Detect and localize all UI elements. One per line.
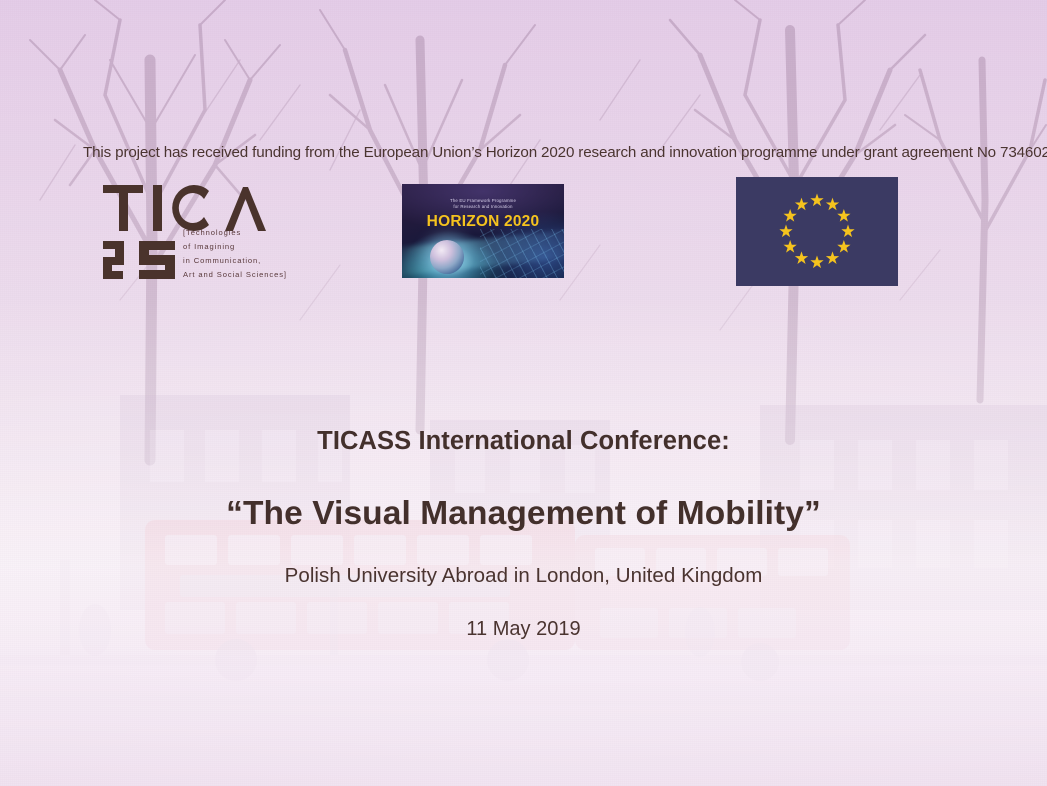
european-union-flag: [736, 177, 898, 286]
horizon-title: HORIZON 2020: [402, 213, 564, 231]
event-date: 11 May 2019: [0, 618, 1047, 641]
page-title: “The Visual Management of Mobility”: [0, 495, 1047, 533]
background-trees: [0, 0, 1047, 786]
background-fade-veil: [0, 0, 1047, 786]
ticass-logo: [Technologies of Imagining in Communicat…: [101, 183, 311, 283]
horizon-network-grid: [480, 229, 564, 278]
svg-text:[Technologies: [Technologies: [183, 228, 241, 237]
background-street-scene: [0, 0, 1047, 786]
venue-text: Polish University Abroad in London, Unit…: [0, 564, 1047, 588]
presentation-slide: This project has received funding from t…: [0, 0, 1047, 786]
horizon-2020-logo: The EU Framework Programme for Research …: [402, 184, 564, 278]
horizon-tagline-line2: for Research and Innovation: [402, 204, 564, 210]
horizon-tagline: The EU Framework Programme for Research …: [402, 198, 564, 211]
horizon-globe-icon: [430, 240, 464, 274]
eu-funding-statement: This project has received funding from t…: [83, 144, 973, 162]
svg-text:Art and Social Sciences]: Art and Social Sciences]: [183, 270, 287, 279]
svg-text:in Communication,: in Communication,: [183, 256, 261, 265]
conference-title: TICASS International Conference:: [0, 427, 1047, 456]
slide-background-wash: [0, 0, 1047, 786]
svg-text:of Imagining: of Imagining: [183, 242, 235, 251]
background-grain-texture: [0, 0, 1047, 786]
